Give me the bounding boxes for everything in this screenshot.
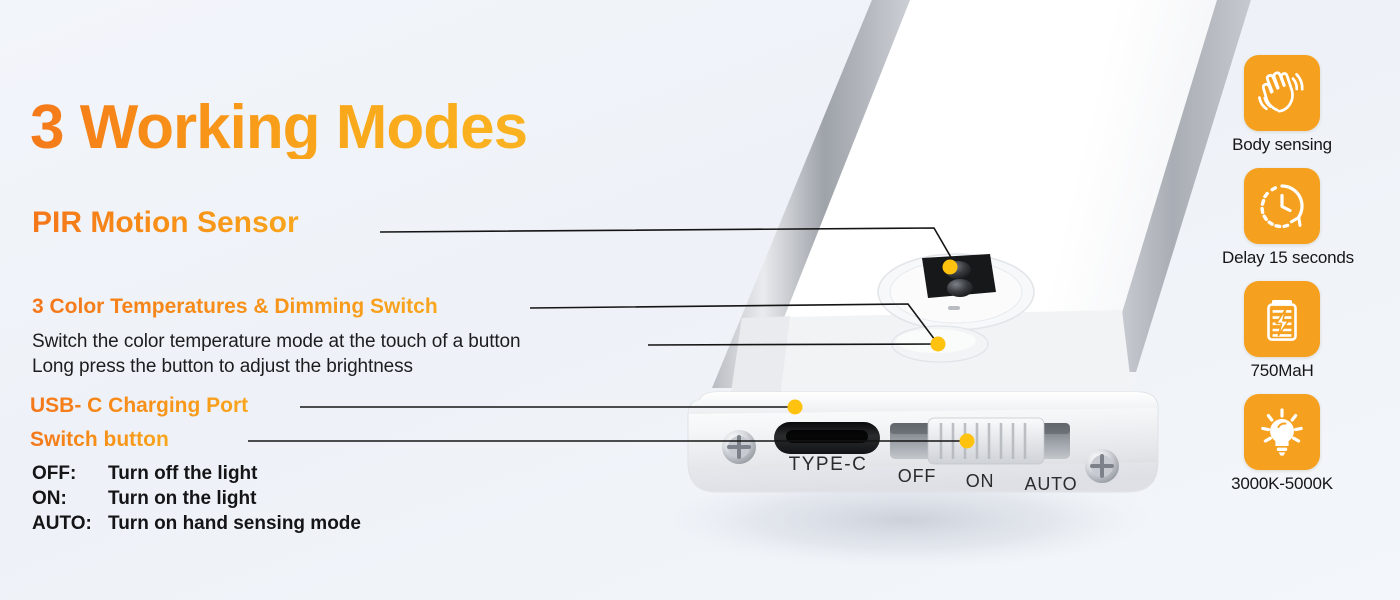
switch-label-auto: AUTO — [1025, 474, 1078, 494]
touch-button-marker — [931, 337, 946, 352]
callout-title-pir: PIR Motion Sensor — [32, 206, 299, 240]
light-bulb-icon — [1255, 405, 1309, 459]
lightning-bolt — [1276, 310, 1288, 336]
feature-badge-battery: 750MaH — [1222, 281, 1342, 381]
bulb-base-1 — [1277, 448, 1287, 451]
feature-badge-delay: Delay 15 seconds — [1222, 168, 1342, 268]
switch-mode-key: ON: — [32, 486, 108, 511]
slide-switch-marker — [960, 434, 975, 449]
badge-label: Delay 15 seconds — [1222, 248, 1342, 268]
usb-c-port-label: TYPE-C — [789, 454, 868, 475]
left-text-column: 3 Working Modes PIR Motion Sensor 3 Colo… — [0, 0, 700, 600]
infographic-canvas: TYPE-C OFF ON AUTO — [0, 0, 1400, 600]
badge-tile — [1244, 394, 1320, 470]
bulb-base-2 — [1279, 452, 1286, 455]
switch-mode-row: OFF: Turn off the light — [32, 461, 361, 486]
switch-mode-key: OFF: — [32, 461, 108, 486]
switch-label-off: OFF — [898, 466, 936, 486]
callout-desc-color-temp-line1: Switch the color temperature mode at the… — [32, 331, 521, 353]
callout-title-color-temp: 3 Color Temperatures & Dimming Switch — [32, 295, 438, 319]
pir-lens-lower — [947, 279, 973, 297]
badge-label: 3000K-5000K — [1222, 474, 1342, 494]
switch-mode-row: ON: Turn on the light — [32, 486, 361, 511]
feature-badge-color-temp: 3000K-5000K — [1222, 394, 1342, 494]
feature-badge-body-sensing: Body sensing — [1222, 55, 1342, 155]
callout-title-usb: USB- C Charging Port — [30, 394, 248, 418]
clock-delay-icon — [1255, 179, 1309, 233]
badge-tile — [1244, 168, 1320, 244]
badge-label: Body sensing — [1222, 135, 1342, 155]
callout-title-switch: Switch button — [30, 428, 169, 452]
badge-tile — [1244, 281, 1320, 357]
badge-label: 750MaH — [1222, 361, 1342, 381]
switch-mode-desc: Turn off the light — [108, 461, 258, 486]
switch-mode-row: AUTO: Turn on hand sensing mode — [32, 511, 361, 536]
switch-mode-list: OFF: Turn off the light ON: Turn on the … — [32, 461, 361, 536]
page-title: 3 Working Modes — [30, 97, 527, 159]
usb-c-port-marker — [788, 400, 803, 415]
callout-desc-color-temp-line2: Long press the button to adjust the brig… — [32, 356, 413, 378]
switch-mode-key: AUTO: — [32, 511, 108, 536]
feature-badge-column: Body sensing — [1222, 55, 1342, 507]
switch-label-on: ON — [966, 471, 995, 491]
status-led-slit — [948, 306, 960, 310]
pir-sensor-marker — [943, 260, 958, 275]
waving-hand-icon — [1255, 66, 1309, 120]
badge-tile — [1244, 55, 1320, 131]
battery-charge-icon — [1255, 292, 1309, 346]
switch-mode-desc: Turn on the light — [108, 486, 256, 511]
switch-mode-desc: Turn on hand sensing mode — [108, 511, 361, 536]
